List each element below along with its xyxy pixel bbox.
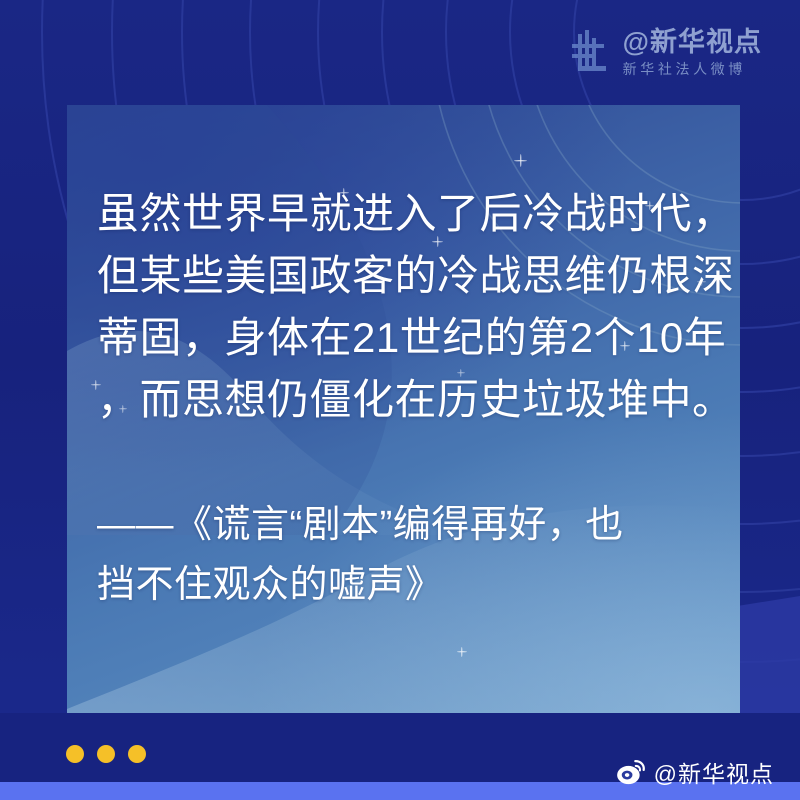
footer-dot <box>97 745 115 763</box>
footer-dot <box>66 745 84 763</box>
footer-dot <box>128 745 146 763</box>
attribution-text: ——《谎言“剧本”编得再好，也 挡不住观众的嘘声》 <box>97 495 722 615</box>
footer-weibo-credit: @新华视点 <box>616 755 774 789</box>
footer-dots <box>66 745 146 763</box>
quote-line: 虽然世界早就进入了后冷战时代， <box>97 183 722 245</box>
watermark-text: @新华视点 新华社法人微博 <box>623 29 762 76</box>
attribution-line: 挡不住观众的嘘声》 <box>97 555 722 615</box>
quote-line: 蒂固，身体在21世纪的第2个10年 <box>97 307 722 369</box>
quote-text: 虽然世界早就进入了后冷战时代， 但某些美国政客的冷战思维仍根深 蒂固，身体在21… <box>97 183 722 431</box>
quote-card: 虽然世界早就进入了后冷战时代， 但某些美国政客的冷战思维仍根深 蒂固，身体在21… <box>67 105 740 713</box>
attribution-line: ——《谎言“剧本”编得再好，也 <box>97 495 722 555</box>
watermark-subtitle: 新华社法人微博 <box>623 62 762 76</box>
weibo-eye-icon <box>616 759 646 785</box>
quote-line: 但某些美国政客的冷战思维仍根深 <box>97 245 722 307</box>
watermark-handle: @新华视点 <box>623 29 762 56</box>
footer-handle-label: @新华视点 <box>654 755 774 789</box>
watermark: @新华视点 新华社法人微博 <box>566 28 762 76</box>
xinhua-logo-icon <box>566 28 614 76</box>
quote-line: ，而思想仍僵化在历史垃圾堆中。 <box>97 369 722 431</box>
poster-root: 虽然世界早就进入了后冷战时代， 但某些美国政客的冷战思维仍根深 蒂固，身体在21… <box>0 0 800 800</box>
